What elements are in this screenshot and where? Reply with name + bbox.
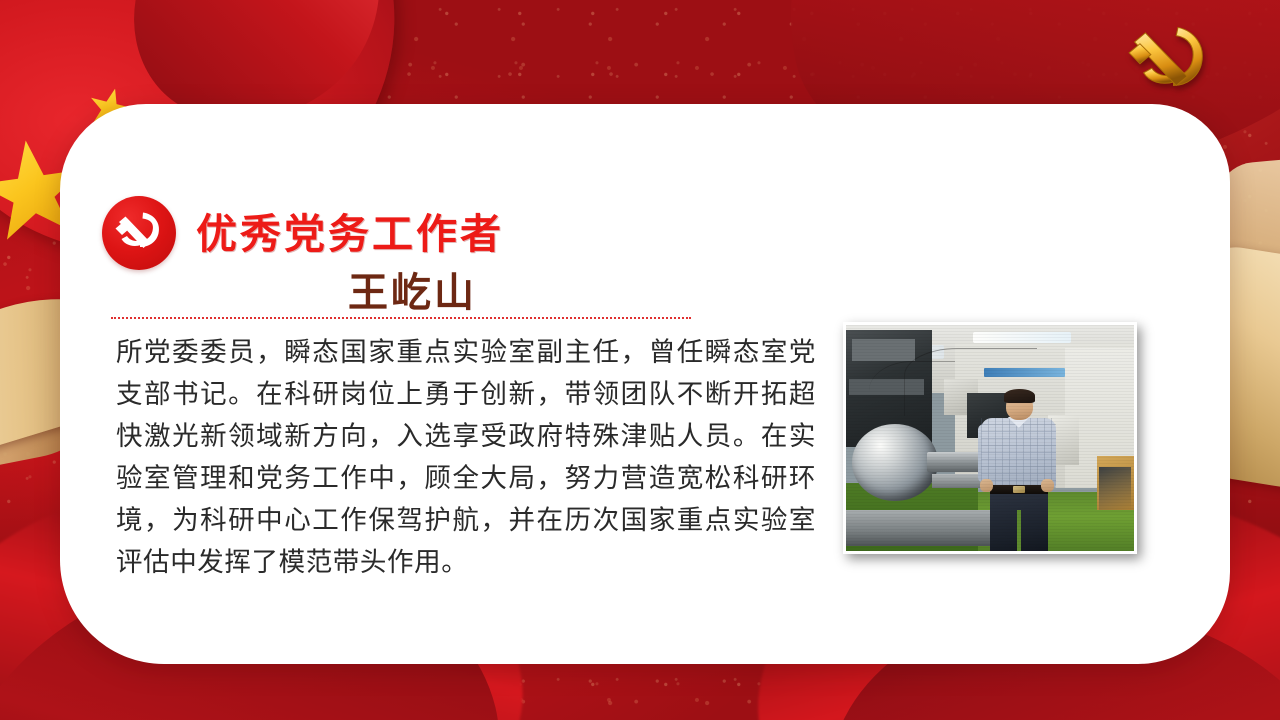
hammer-and-sickle-icon: [102, 196, 176, 270]
dotted-divider: [111, 317, 691, 319]
content-card: 优秀党务工作者 王屹山 所党委委员，瞬态国家重点实验室副主任，曾任瞬态室党支部书…: [60, 104, 1230, 664]
page-title: 优秀党务工作者: [196, 200, 504, 260]
photo-grain-overlay: [846, 325, 1134, 551]
laboratory-portrait-photo: [843, 322, 1137, 554]
biography-text: 所党委委员，瞬态国家重点实验室副主任，曾任瞬态室党支部书记。在科研岗位上勇于创新…: [116, 332, 816, 584]
person-name: 王屹山: [348, 260, 477, 318]
party-emblem-gold-icon: [1123, 22, 1215, 100]
biography-paragraph: 所党委委员，瞬态国家重点实验室副主任，曾任瞬态室党支部书记。在科研岗位上勇于创新…: [116, 332, 816, 584]
slide-root: 优秀党务工作者 王屹山 所党委委员，瞬态国家重点实验室副主任，曾任瞬态室党支部书…: [0, 0, 1280, 720]
